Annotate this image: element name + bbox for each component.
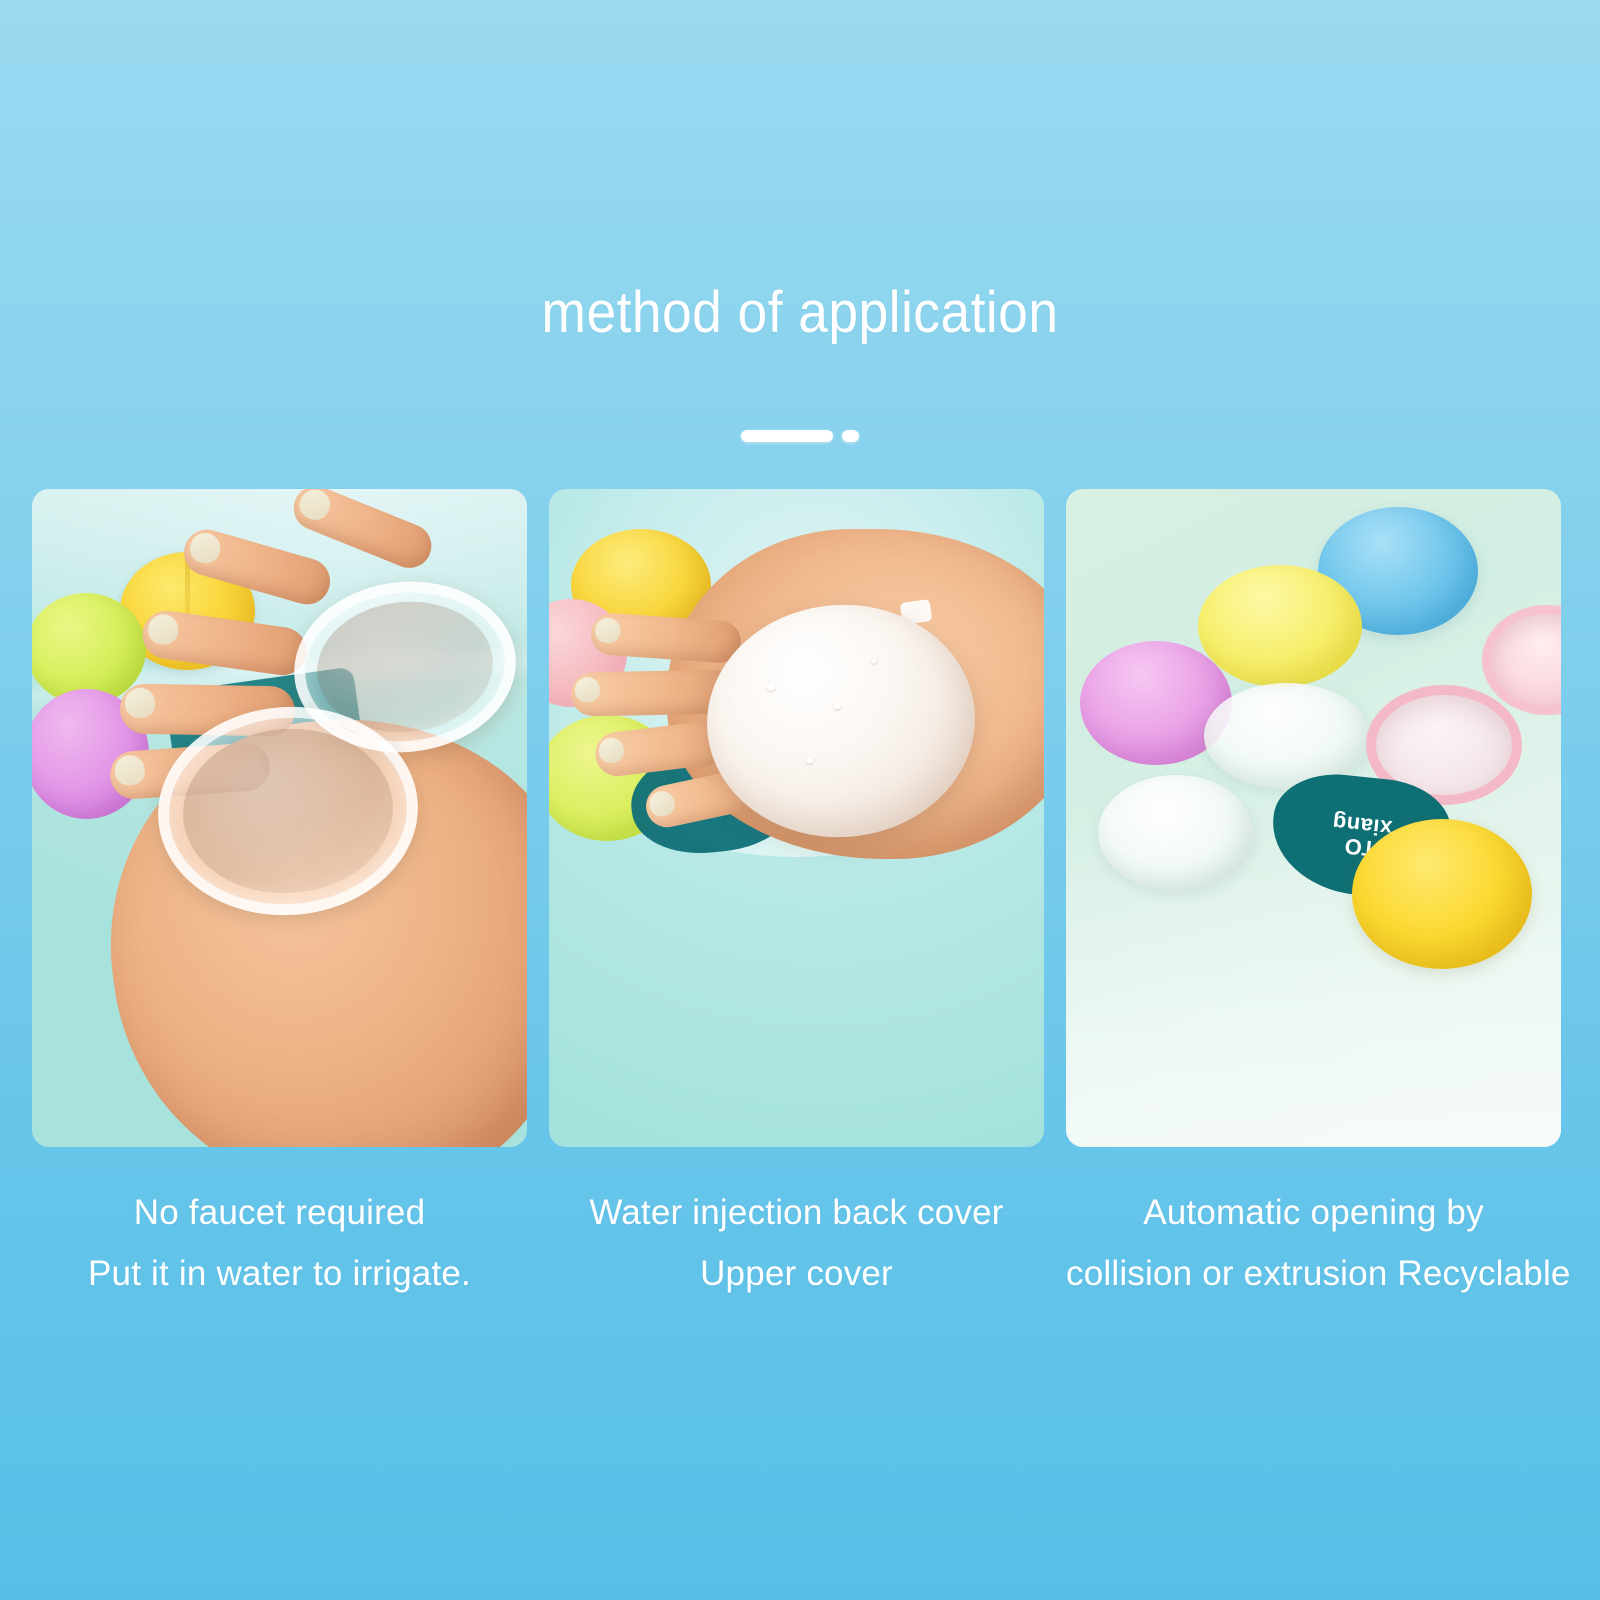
balloon-half-yellow-bottom: [1352, 819, 1532, 969]
section-divider: [0, 430, 1600, 442]
fingernail: [295, 489, 334, 524]
panel-1-image: [32, 489, 527, 1147]
water-droplet: [834, 703, 841, 709]
divider-short-bar: [842, 430, 859, 442]
fingernail: [187, 529, 224, 566]
caption-panel-2: Water injection back cover Upper cover: [549, 1182, 1044, 1304]
water-droplet: [871, 658, 877, 663]
caption-line: collision or extrusion Recyclable: [1066, 1243, 1561, 1304]
cup-inner-shade: [178, 722, 398, 900]
caption-line: Upper cover: [549, 1243, 1044, 1304]
promo-page: method of application: [0, 0, 1600, 1600]
caption-panel-3: Automatic opening by collision or extrus…: [1066, 1182, 1561, 1304]
page-title: method of application: [64, 278, 1536, 348]
panel-3-image: TOxiang: [1066, 489, 1561, 1147]
caption-line: Water injection back cover: [549, 1182, 1044, 1243]
divider-long-bar: [741, 430, 833, 442]
caption-row: No faucet required Put it in water to ir…: [32, 1182, 1561, 1304]
water-droplet: [766, 683, 775, 691]
panel-row: TOxiang: [32, 489, 1561, 1147]
panel-2-image: [549, 489, 1044, 1147]
fingernail: [647, 789, 677, 819]
water-droplet: [805, 757, 813, 764]
fingernail: [597, 736, 625, 764]
balloon-half-white-left: [1098, 775, 1254, 891]
caption-line: No faucet required: [32, 1182, 527, 1243]
balloon-half-yellow-top: [1198, 565, 1362, 687]
caption-line: Automatic opening by: [1066, 1182, 1561, 1243]
fingernail: [595, 617, 622, 644]
balloon-half-white-middle: [1204, 683, 1370, 789]
fingernail: [575, 677, 600, 702]
caption-panel-1: No faucet required Put it in water to ir…: [32, 1182, 527, 1304]
fingernail: [146, 612, 180, 646]
fingernail: [114, 754, 146, 786]
caption-line: Put it in water to irrigate.: [32, 1243, 527, 1304]
fingernail: [125, 688, 156, 719]
